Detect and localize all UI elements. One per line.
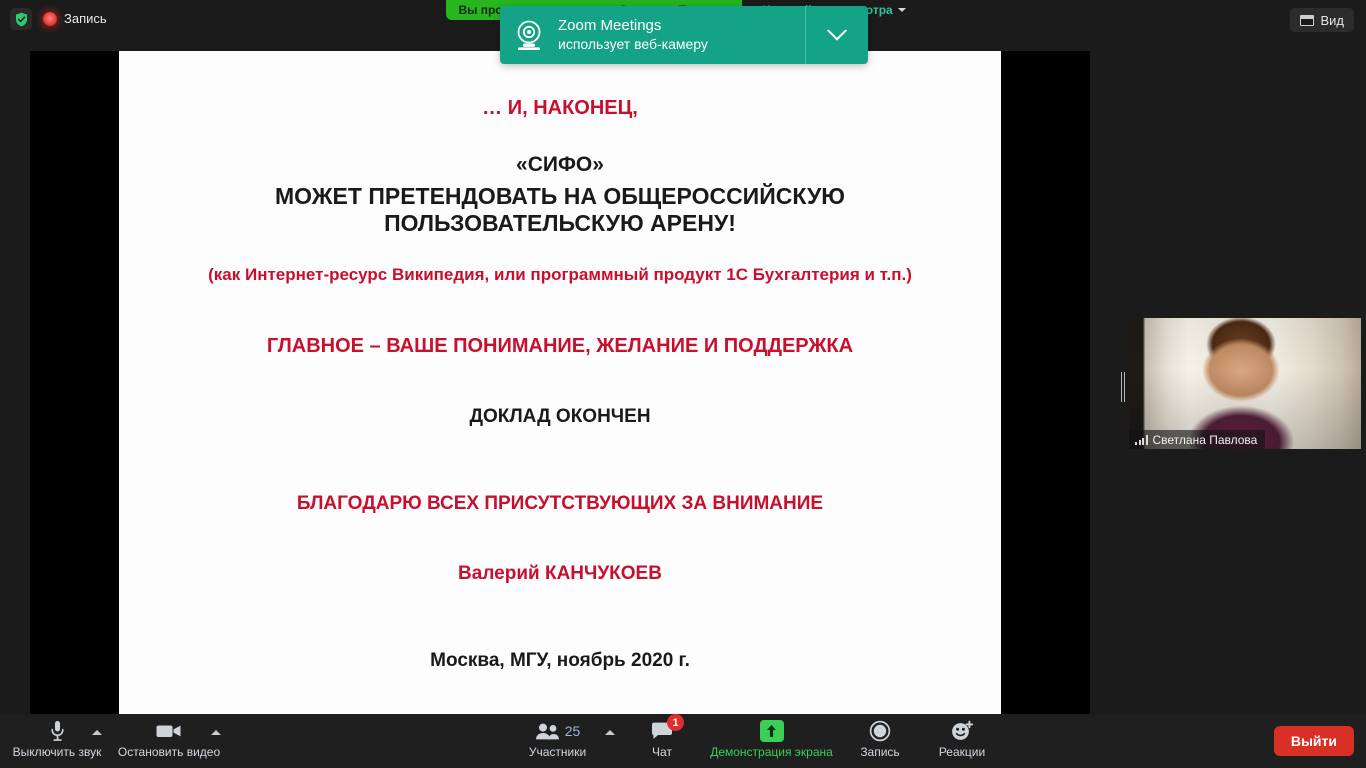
slide-line-thanks: БЛАГОДАРЮ ВСЕХ ПРИСУТСТВУЮЩИХ ЗА ВНИМАНИ… — [159, 493, 961, 515]
webcam-toast-subtitle: использует веб-камеру — [558, 36, 805, 54]
slide-line-sifo: «СИФО» — [159, 153, 961, 178]
recording-label: Запись — [64, 11, 107, 26]
audio-options-caret-icon[interactable] — [92, 730, 102, 735]
chat-button[interactable]: 1 Чат — [636, 718, 688, 766]
chevron-down-icon — [827, 21, 847, 41]
reactions-button-label: Реакции — [939, 745, 985, 759]
recording-dot-icon — [43, 12, 57, 26]
participants-button-label: Участники — [529, 745, 586, 759]
presentation-slide: … И, НАКОНЕЦ, «СИФО» МОЖЕТ ПРЕТЕНДОВАТЬ … — [119, 51, 1001, 714]
webcam-icon — [500, 19, 558, 51]
slide-line-examples: (как Интернет-ресурс Википедия, или прог… — [159, 264, 961, 285]
video-options-caret-icon[interactable] — [211, 730, 221, 735]
leave-meeting-button[interactable]: Выйти — [1274, 726, 1354, 756]
webcam-toast-title: Zoom Meetings — [558, 17, 805, 36]
record-button-label: Запись — [860, 745, 899, 759]
participants-count: 25 — [565, 723, 581, 739]
leave-meeting-label: Выйти — [1291, 733, 1337, 749]
drag-handle-icon[interactable] — [1120, 370, 1126, 404]
chat-button-label: Чат — [652, 745, 672, 759]
recording-indicator[interactable]: Запись — [43, 11, 107, 26]
slide-line-claim: МОЖЕТ ПРЕТЕНДОВАТЬ НА ОБЩЕРОССИЙСКУЮ ПОЛ… — [159, 183, 961, 237]
record-circle-icon — [869, 718, 891, 744]
share-screen-button-label: Демонстрация экрана — [710, 745, 833, 759]
participant-video-tile[interactable]: Светлана Павлова — [1129, 318, 1361, 449]
participants-icon: 25 — [535, 718, 581, 744]
meeting-toolbar: Выключить звук Остановить видео — [0, 714, 1366, 768]
chevron-down-icon — [898, 8, 906, 12]
shield-check-icon[interactable] — [10, 8, 32, 30]
participant-name-badge: Светлана Павлова — [1129, 430, 1265, 449]
stop-video-button-label: Остановить видео — [118, 745, 220, 759]
gallery-view-icon — [1300, 15, 1314, 26]
slide-line-main: ГЛАВНОЕ – ВАШЕ ПОНИМАНИЕ, ЖЕЛАНИЕ И ПОДД… — [159, 335, 961, 359]
slide-line-done: ДОКЛАД ОКОНЧЕН — [159, 406, 961, 428]
slide-line-author: Валерий КАНЧУКОЕВ — [159, 563, 961, 585]
stop-video-button[interactable]: Остановить видео — [116, 718, 222, 766]
record-button[interactable]: Запись — [849, 718, 911, 766]
smiley-plus-icon — [950, 718, 974, 744]
webcam-in-use-toast[interactable]: Zoom Meetings использует веб-камеру — [500, 6, 868, 64]
slide-line-finally: … И, НАКОНЕЦ, — [159, 97, 961, 121]
video-camera-icon — [156, 718, 182, 744]
participant-name-label: Светлана Павлова — [1153, 433, 1258, 447]
share-screen-button[interactable]: Демонстрация экрана — [696, 718, 847, 766]
view-button-label: Вид — [1320, 13, 1344, 28]
mute-button-label: Выключить звук — [13, 745, 102, 759]
mute-button[interactable]: Выключить звук — [10, 718, 104, 766]
chat-bubble-icon: 1 — [651, 718, 673, 744]
zoom-meeting-window: Запись Вы просматриваете экран Светлана … — [0, 0, 1366, 768]
chat-unread-badge: 1 — [667, 714, 684, 731]
share-screen-up-arrow-icon — [760, 718, 784, 744]
toast-expand-button[interactable] — [806, 28, 868, 42]
reactions-button[interactable]: Реакции — [928, 718, 996, 766]
participants-button[interactable]: 25 Участники — [521, 718, 594, 766]
microphone-icon — [50, 718, 65, 744]
slide-line-place: Москва, МГУ, ноябрь 2020 г. — [159, 650, 961, 672]
view-button[interactable]: Вид — [1290, 8, 1354, 32]
webcam-toast-text: Zoom Meetings использует веб-камеру — [558, 17, 805, 53]
participants-options-caret-icon[interactable] — [605, 730, 615, 735]
signal-strength-icon — [1135, 435, 1148, 445]
shared-screen-stage[interactable]: … И, НАКОНЕЦ, «СИФО» МОЖЕТ ПРЕТЕНДОВАТЬ … — [30, 51, 1090, 714]
